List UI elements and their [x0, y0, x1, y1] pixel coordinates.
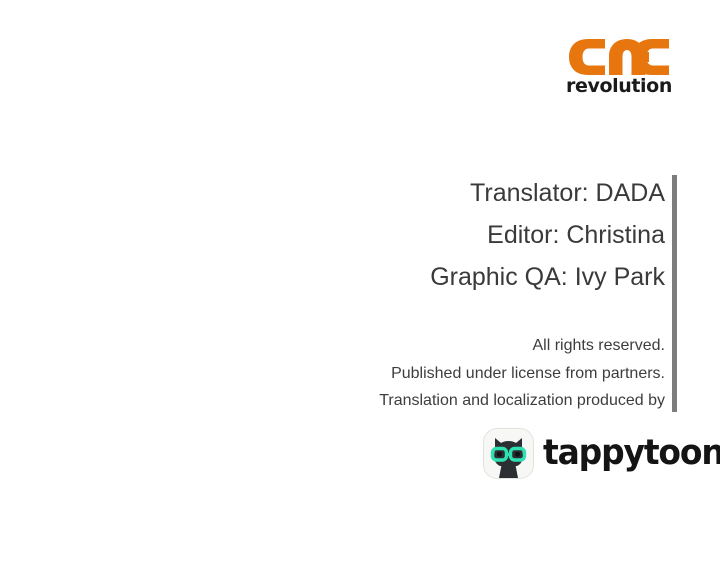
credits-block: Translator: DADA Editor: Christina Graph…: [300, 172, 665, 298]
legal-line-localization: Translation and localization produced by: [300, 387, 665, 415]
tappytoon-cat-icon: [484, 429, 533, 478]
text-column-divider: [672, 175, 677, 412]
cnc-mark-icon: [566, 38, 672, 76]
publisher-wordmark: revolution: [566, 77, 672, 96]
credit-line-graphic-qa: Graphic QA: Ivy Park: [300, 256, 665, 298]
legal-block: All rights reserved. Published under lic…: [300, 332, 665, 415]
credit-line-editor: Editor: Christina: [300, 214, 665, 256]
tappytoon-logo[interactable]: tappytoon: [484, 429, 720, 478]
credit-line-translator: Translator: DADA: [300, 172, 665, 214]
publisher-logo: revolution: [566, 38, 676, 102]
legal-line-rights: All rights reserved.: [300, 332, 665, 360]
tappytoon-wordmark: tappytoon: [543, 436, 720, 471]
legal-line-license: Published under license from partners.: [300, 360, 665, 388]
